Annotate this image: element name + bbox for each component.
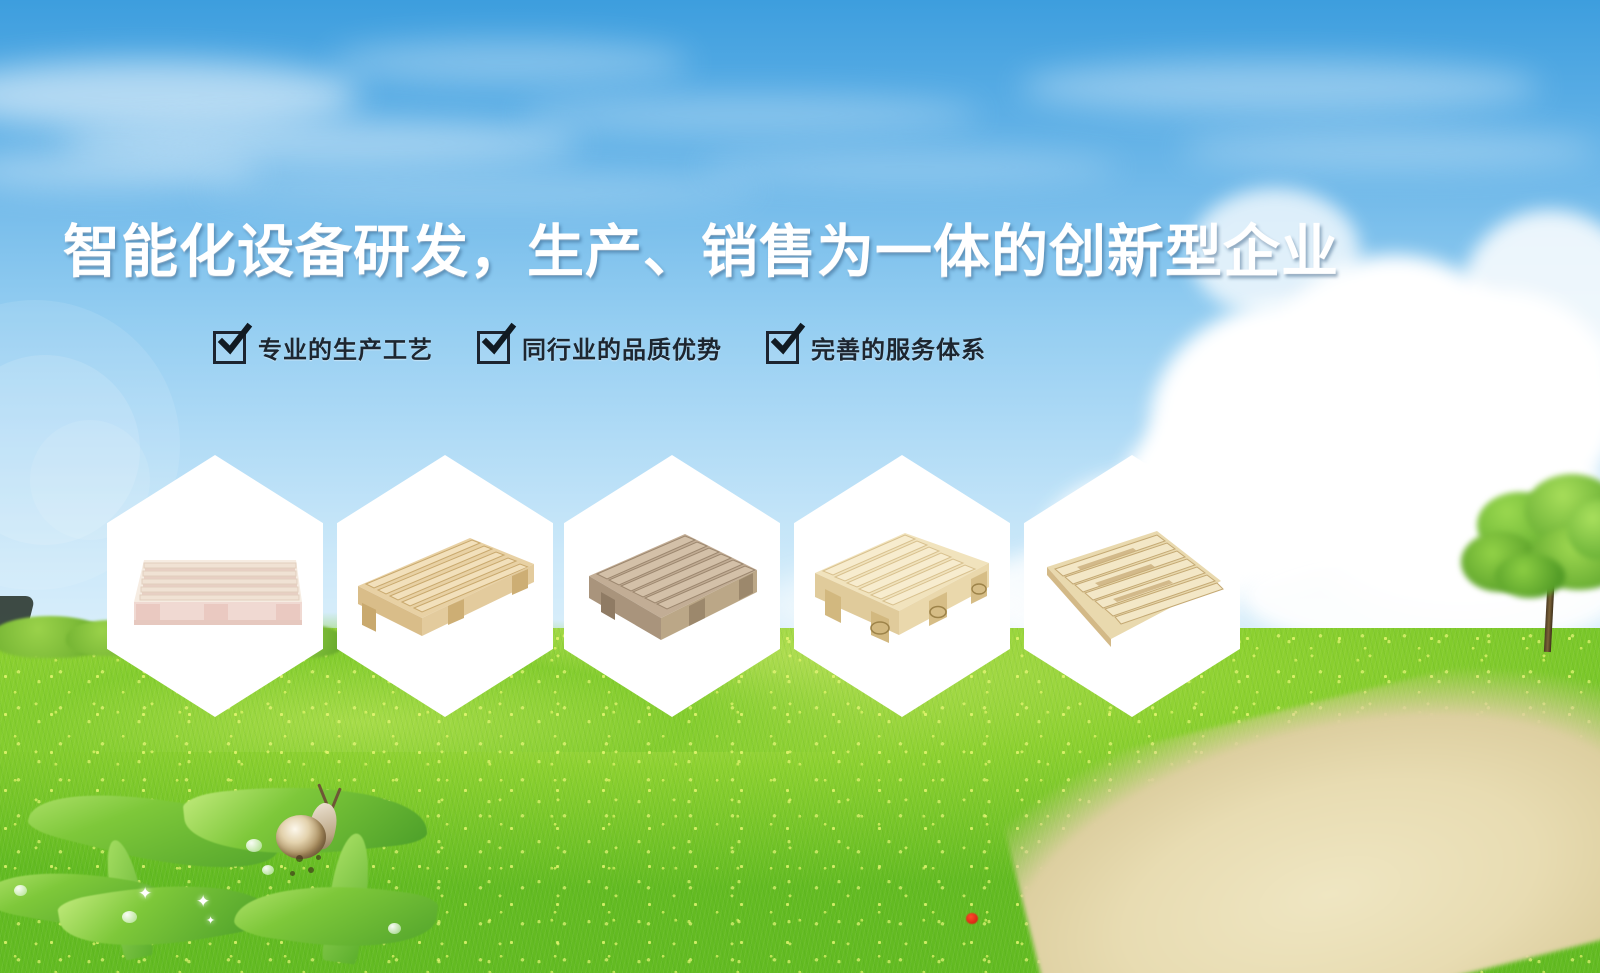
pallet-pine-slatted-image (352, 520, 538, 652)
pallet-euro-stamped-image (809, 519, 995, 653)
snail-shell (276, 815, 326, 859)
shell-spot (316, 855, 321, 860)
sparkle-icon: ✦ (206, 913, 215, 930)
red-flower-icon (966, 913, 978, 924)
foreground-foliage: ✦ ✦ ✦ (0, 743, 470, 973)
product-hexagon-1[interactable] (337, 455, 553, 717)
hero-banner: 智能化设备研发，生产、销售为一体的创新型企业 专业的生产工艺 同行业的品质优势 (0, 0, 1600, 973)
product-hexagon-4[interactable] (1024, 455, 1240, 717)
dew-drop-icon (14, 885, 27, 896)
shell-spot (296, 855, 303, 862)
snail-icon (268, 785, 354, 865)
pallet-whitewashed-image (126, 530, 304, 642)
product-hexagon-0[interactable] (107, 455, 323, 717)
shell-spot (308, 867, 314, 873)
dew-drop-icon (246, 839, 262, 852)
pallet-weathered-grey-image (581, 518, 763, 654)
dew-drop-icon (262, 865, 274, 875)
product-hexagon-3[interactable] (794, 455, 1010, 717)
product-hexagon-2[interactable] (564, 455, 780, 717)
shell-spot (290, 871, 295, 876)
sparkle-icon: ✦ (138, 885, 152, 902)
dew-drop-icon (122, 911, 137, 923)
sparkle-icon: ✦ (196, 893, 210, 910)
dew-drop-icon (388, 923, 401, 934)
pallet-flat-topview-image (1037, 523, 1227, 649)
